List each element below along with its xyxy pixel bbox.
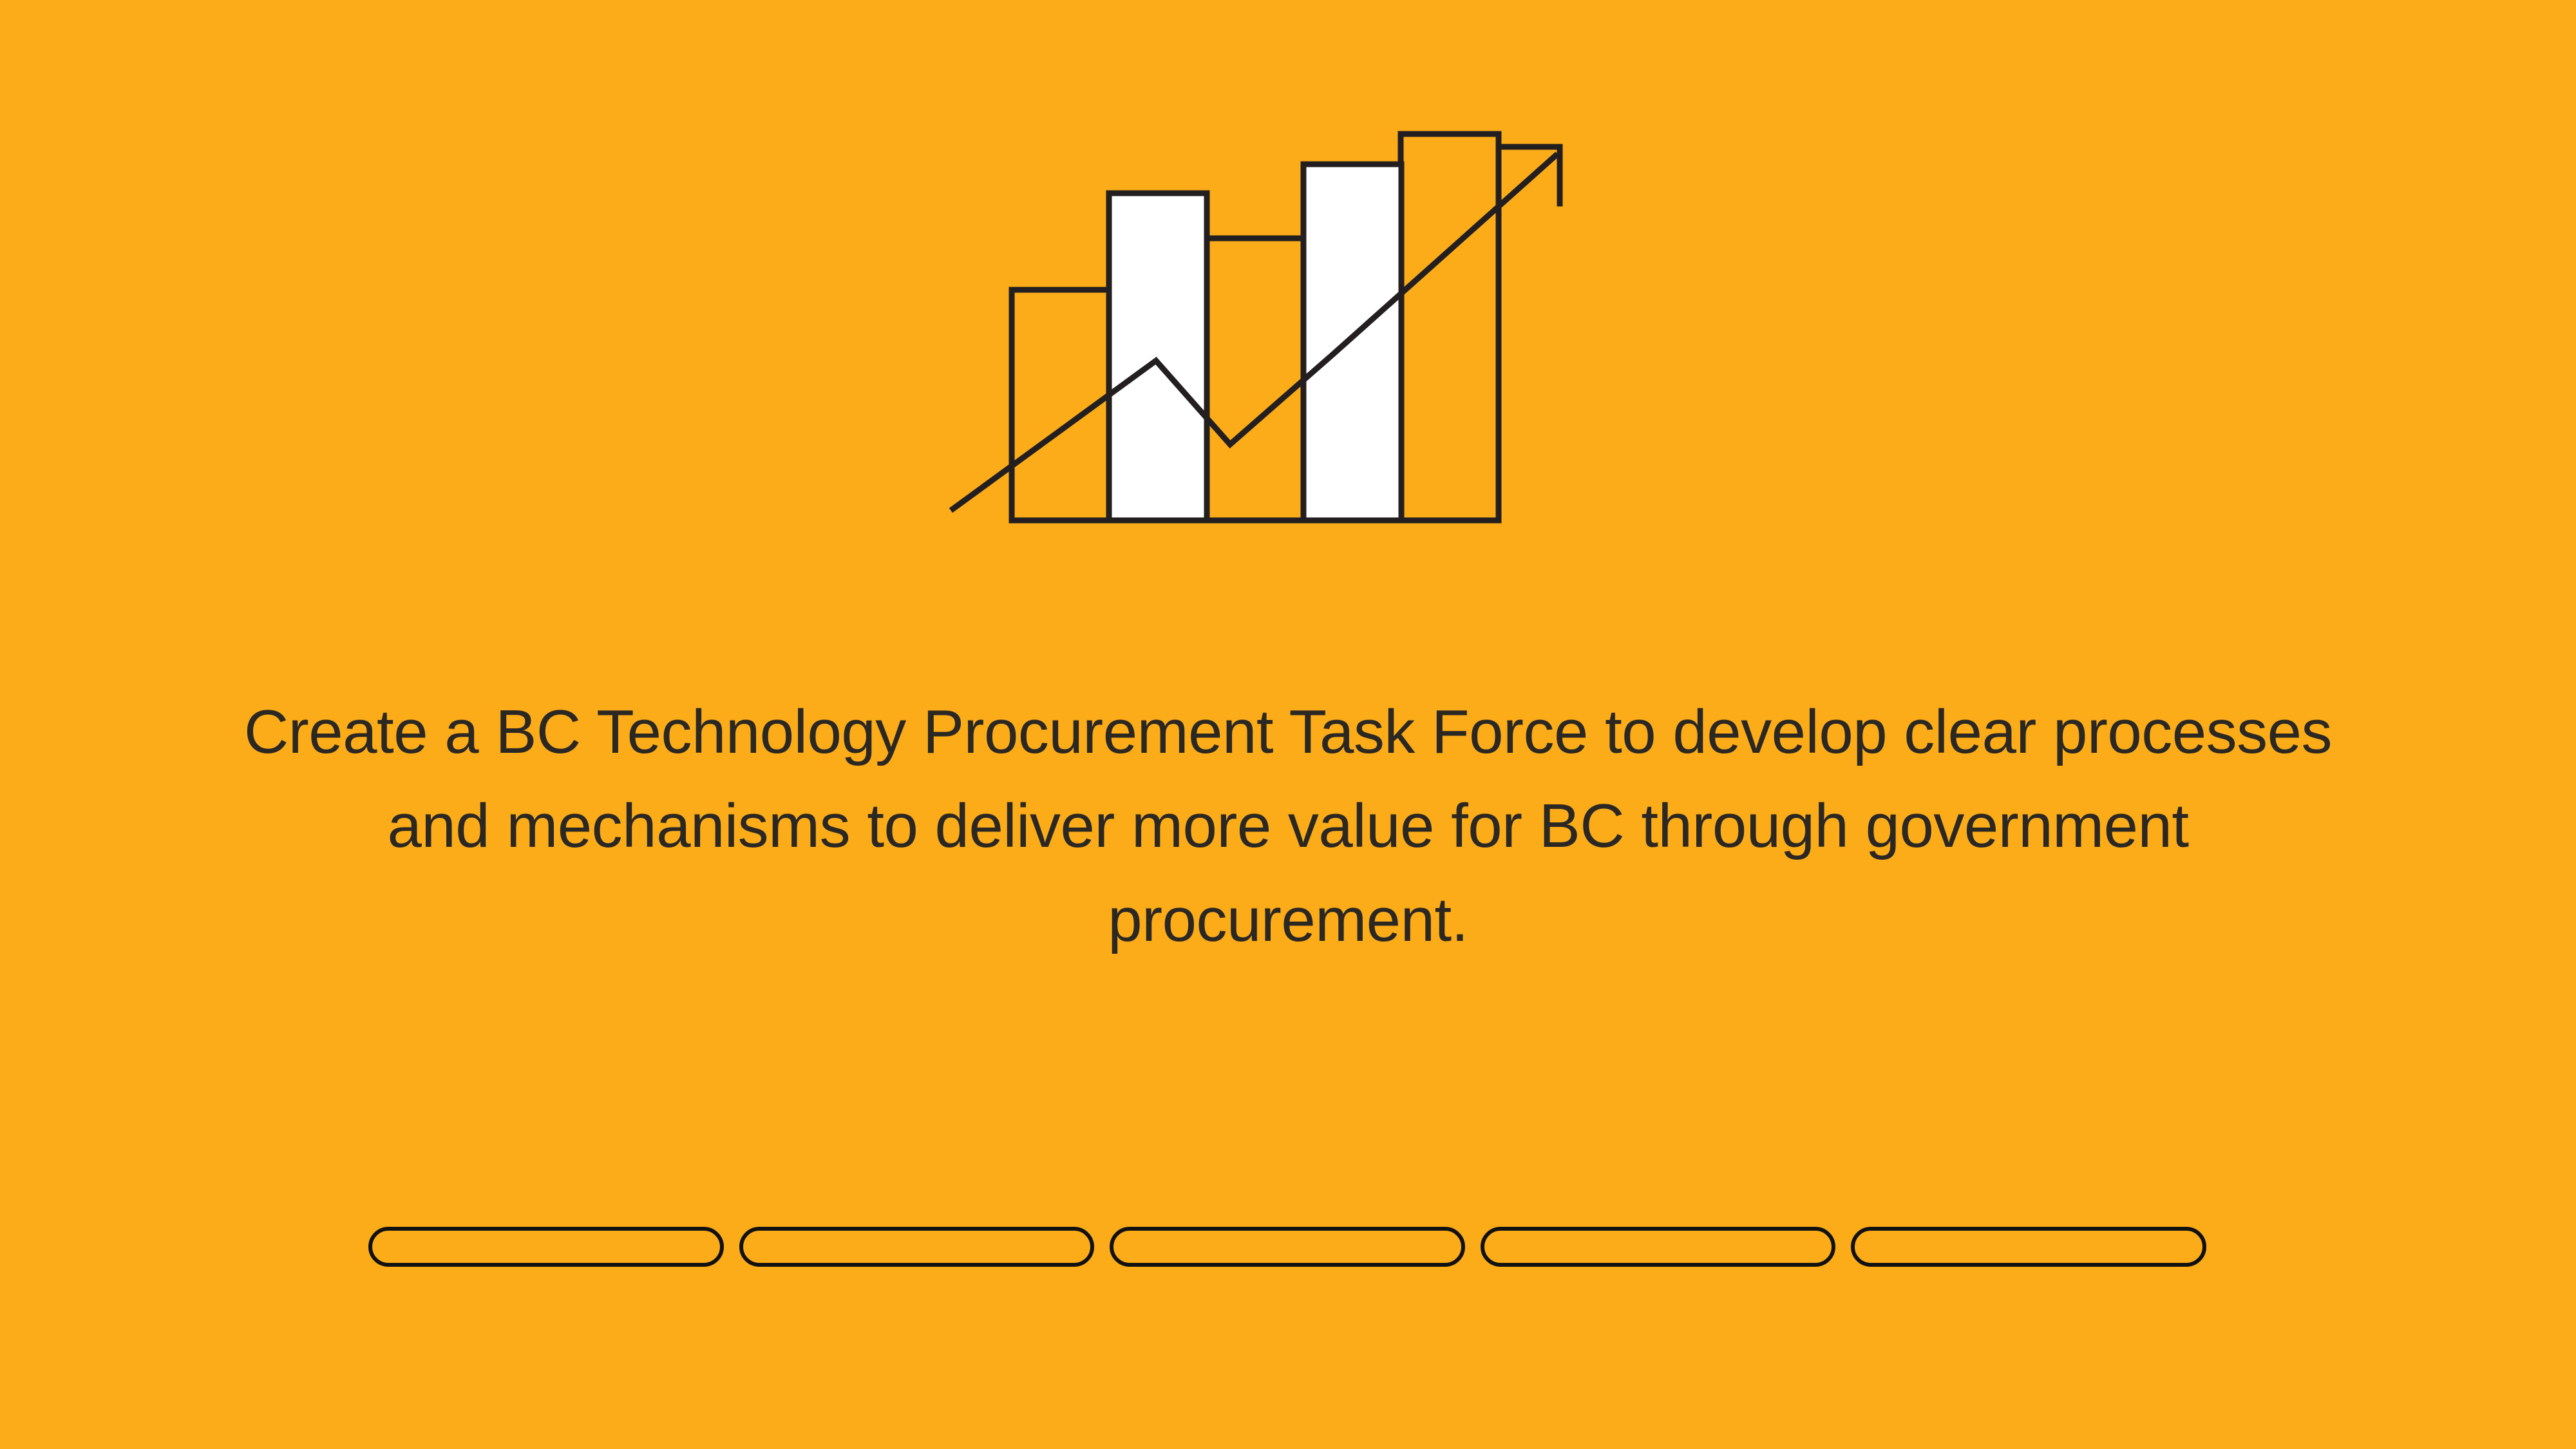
trend-line-path [953, 156, 1555, 509]
progress-step-1[interactable] [368, 1227, 724, 1267]
page-title: Create a BC Technology Procurement Task … [238, 685, 2338, 967]
progress-step-4[interactable] [1481, 1227, 1836, 1267]
chart-bar-3 [1206, 238, 1304, 520]
chart-bar-2 [1109, 193, 1207, 520]
illustration-container [0, 77, 2576, 567]
chart-bar-5 [1401, 134, 1499, 520]
progress-step-5[interactable] [1851, 1227, 2206, 1267]
growth-bar-chart-icon [947, 77, 1629, 554]
progress-indicator [368, 1225, 2206, 1269]
chart-bar-4 [1303, 164, 1401, 520]
slide-root: Create a BC Technology Procurement Task … [0, 0, 2576, 1449]
progress-step-2[interactable] [739, 1227, 1095, 1267]
progress-step-3[interactable] [1110, 1227, 1465, 1267]
